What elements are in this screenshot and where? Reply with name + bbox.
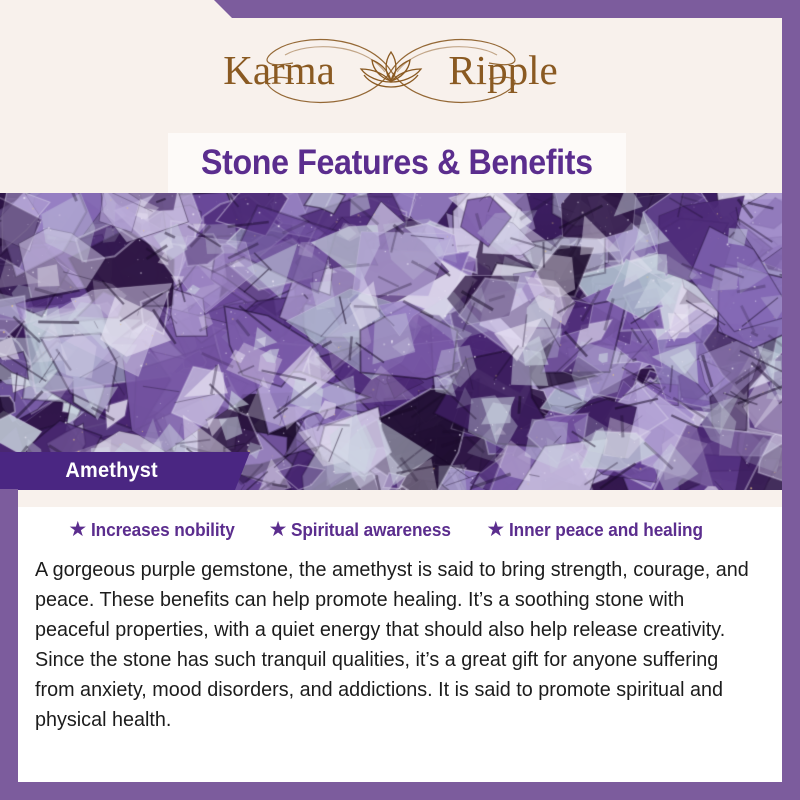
benefit-label: Inner peace and healing <box>509 519 703 541</box>
frame-band-right <box>782 0 800 800</box>
lotus-flower-icon <box>361 52 421 87</box>
benefits-row: ★ Increases nobility ★ Spiritual awarene… <box>18 519 768 541</box>
benefit-label: Increases nobility <box>91 519 235 541</box>
benefit-item: ★ Spiritual awareness <box>269 519 464 541</box>
content-panel: ★ Increases nobility ★ Spiritual awarene… <box>18 507 782 782</box>
amethyst-crystal-cluster-photo <box>0 193 800 490</box>
benefit-label: Spiritual awareness <box>291 519 451 541</box>
brand-name-left: Karma <box>223 47 335 93</box>
cream-divider-strip <box>0 490 782 507</box>
benefit-item: ★ Inner peace and healing <box>486 519 717 541</box>
karma-ripple-logo-mark: Karma Ripple <box>181 28 601 114</box>
stone-name-label: Amethyst <box>65 459 157 483</box>
stone-description: A gorgeous purple gemstone, the amethyst… <box>35 555 753 735</box>
frame-band-left <box>0 489 18 800</box>
star-icon: ★ <box>486 519 505 540</box>
frame-band-bottom <box>0 782 800 800</box>
page-title: Stone Features & Benefits <box>201 143 593 183</box>
star-icon: ★ <box>68 519 87 540</box>
stone-name-banner: Amethyst <box>0 452 250 490</box>
amethyst-hero-image <box>0 193 800 490</box>
brand-logo: Karma Ripple <box>0 28 782 114</box>
brand-name-right: Ripple <box>448 47 557 93</box>
star-icon: ★ <box>269 519 288 540</box>
frame-band-top <box>210 0 800 18</box>
benefit-item: ★ Increases nobility <box>68 519 245 541</box>
stone-features-infographic: Karma Ripple Stone Features & Benefits A… <box>0 0 800 800</box>
page-title-plate: Stone Features & Benefits <box>168 133 626 193</box>
